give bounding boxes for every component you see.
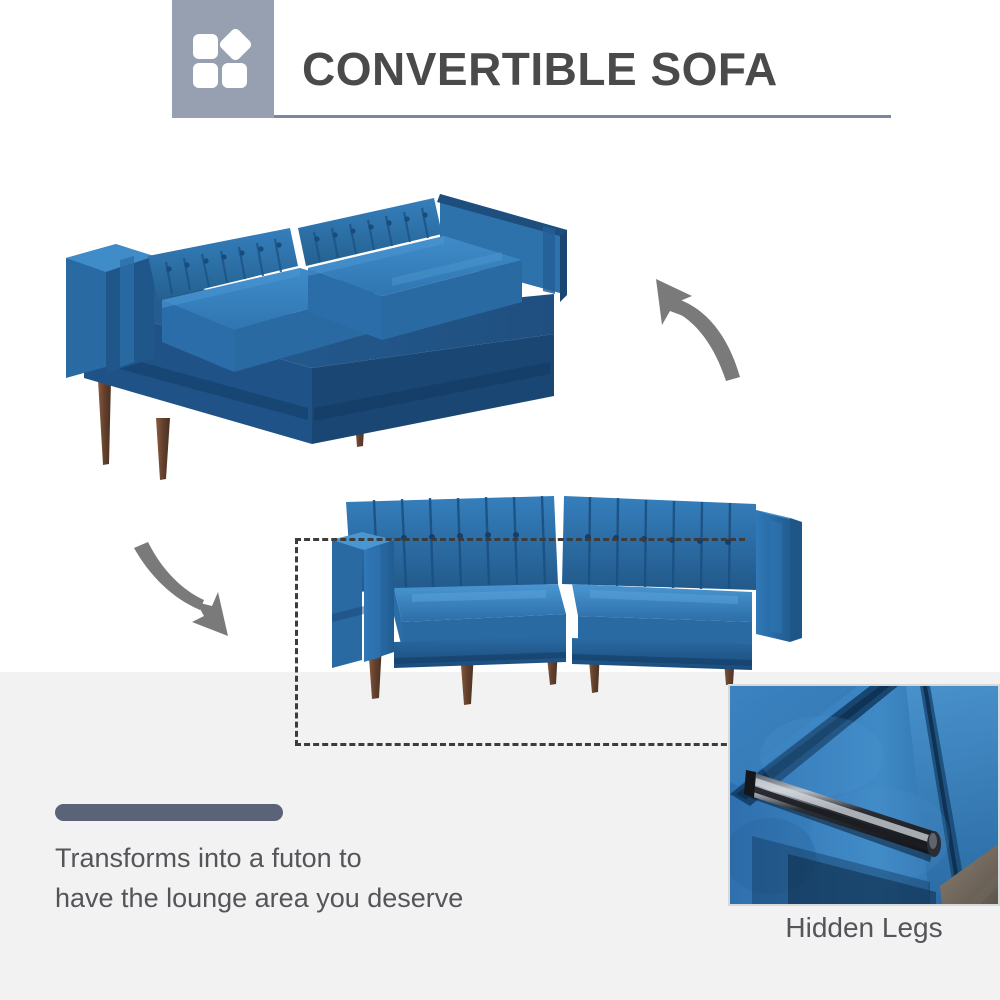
four-tile-grid-icon bbox=[193, 30, 253, 88]
page-title: CONVERTIBLE SOFA bbox=[302, 42, 778, 96]
infographic-page: CONVERTIBLE SOFA bbox=[0, 0, 1000, 1000]
description-line-1: Transforms into a futon to bbox=[55, 838, 525, 878]
sofa-flat-figure bbox=[62, 182, 602, 482]
hidden-legs-closeup-image bbox=[730, 686, 998, 904]
accent-bar bbox=[55, 804, 283, 821]
hidden-legs-inset bbox=[728, 684, 1000, 906]
description-line-2: have the lounge area you deserve bbox=[55, 878, 525, 918]
grid-tile-bottom-left bbox=[193, 63, 218, 88]
inset-caption: Hidden Legs bbox=[728, 912, 1000, 944]
header-underline bbox=[274, 115, 891, 118]
grid-tile-diamond bbox=[218, 27, 253, 62]
sofa-flat-illustration bbox=[62, 182, 602, 482]
hidden-legs-callout-box bbox=[295, 538, 745, 746]
description-text: Transforms into a futon to have the loun… bbox=[55, 838, 525, 918]
grid-tile-bottom-right bbox=[222, 63, 247, 88]
grid-tile-top-left bbox=[193, 34, 218, 59]
arrow-to-flat-icon bbox=[600, 255, 780, 385]
arrow-to-upright-icon bbox=[100, 528, 270, 658]
header-badge bbox=[172, 0, 274, 118]
